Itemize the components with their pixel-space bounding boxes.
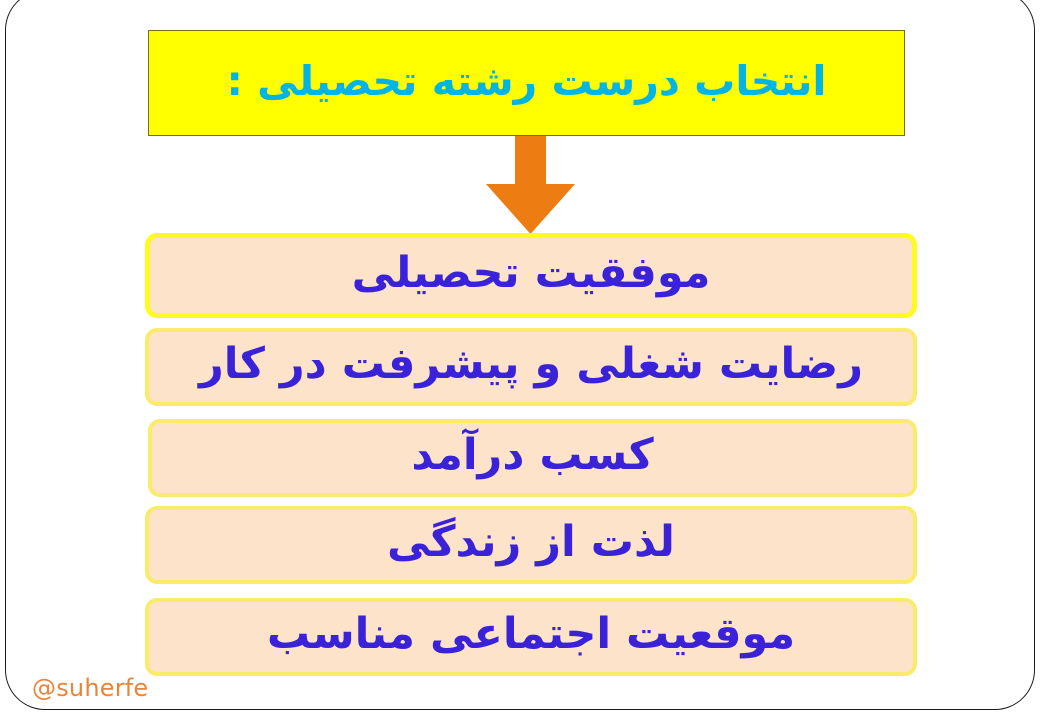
outcome-item-3: کسب درآمد <box>148 419 917 497</box>
outcome-item-5: موقعیت اجتماعی مناسب <box>145 598 917 676</box>
slide-canvas: انتخاب درست رشته تحصیلی : موفقیت تحصیلی … <box>0 0 1040 720</box>
outcome-label: لذت از زندگی <box>387 520 675 565</box>
outcome-label: موفقیت تحصیلی <box>352 251 711 296</box>
outcome-label: موقعیت اجتماعی مناسب <box>267 612 795 657</box>
outcome-item-1: موفقیت تحصیلی <box>145 233 917 318</box>
outcome-item-2: رضایت شغلی و پیشرفت در کار <box>145 328 917 406</box>
outcome-item-4: لذت از زندگی <box>145 506 917 584</box>
watermark-handle: @suherfe <box>32 674 148 702</box>
outcome-label: رضایت شغلی و پیشرفت در کار <box>199 342 863 387</box>
outcomes-list: موفقیت تحصیلی رضایت شغلی و پیشرفت در کار… <box>0 0 1040 720</box>
outcome-label: کسب درآمد <box>411 433 653 478</box>
